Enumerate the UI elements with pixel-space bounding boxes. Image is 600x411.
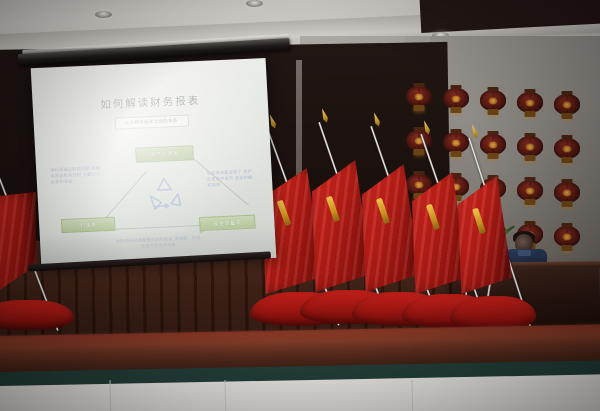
photo-scene: 如何解读财务报表 三大财务报表之间的关系 净利润通过利润分配 形成存收益和未分利…: [0, 0, 600, 411]
lantern-icon: [554, 182, 580, 203]
diagram-node-balance-sheet: 资产负债表: [135, 145, 194, 163]
lantern-icon: [517, 180, 543, 201]
lantern-icon: [406, 86, 432, 107]
lantern-icon: [443, 88, 469, 109]
diagram-note-right: 现金净流量说明了 资产负债表中货币 资金的期初期末: [206, 169, 255, 189]
lantern-icon: [517, 92, 543, 113]
lantern-icon: [517, 136, 543, 157]
lantern-icon: [443, 132, 469, 153]
flag-puddle: [0, 300, 74, 330]
slide-title: 如何解读财务报表: [44, 90, 256, 114]
diagram-note-left: 净利润通过利润分配 形成存收益和未分利 分配计入负债和收益: [50, 165, 105, 186]
projection-screen: 如何解读财务报表 三大财务报表之间的关系 净利润通过利润分配 形成存收益和未分利…: [31, 58, 277, 268]
lantern-icon: [554, 226, 580, 247]
lantern-icon: [480, 134, 506, 155]
downlight-icon: [246, 0, 263, 7]
downlight-icon: [95, 11, 112, 18]
recycle-loop-icon: [141, 174, 189, 216]
speaker-collar: [518, 250, 531, 256]
slide-bullet: 三大财务报表之间的关系: [114, 114, 189, 129]
lantern-icon: [554, 94, 580, 115]
lantern-icon: [480, 90, 506, 111]
lantern-icon: [554, 138, 580, 159]
